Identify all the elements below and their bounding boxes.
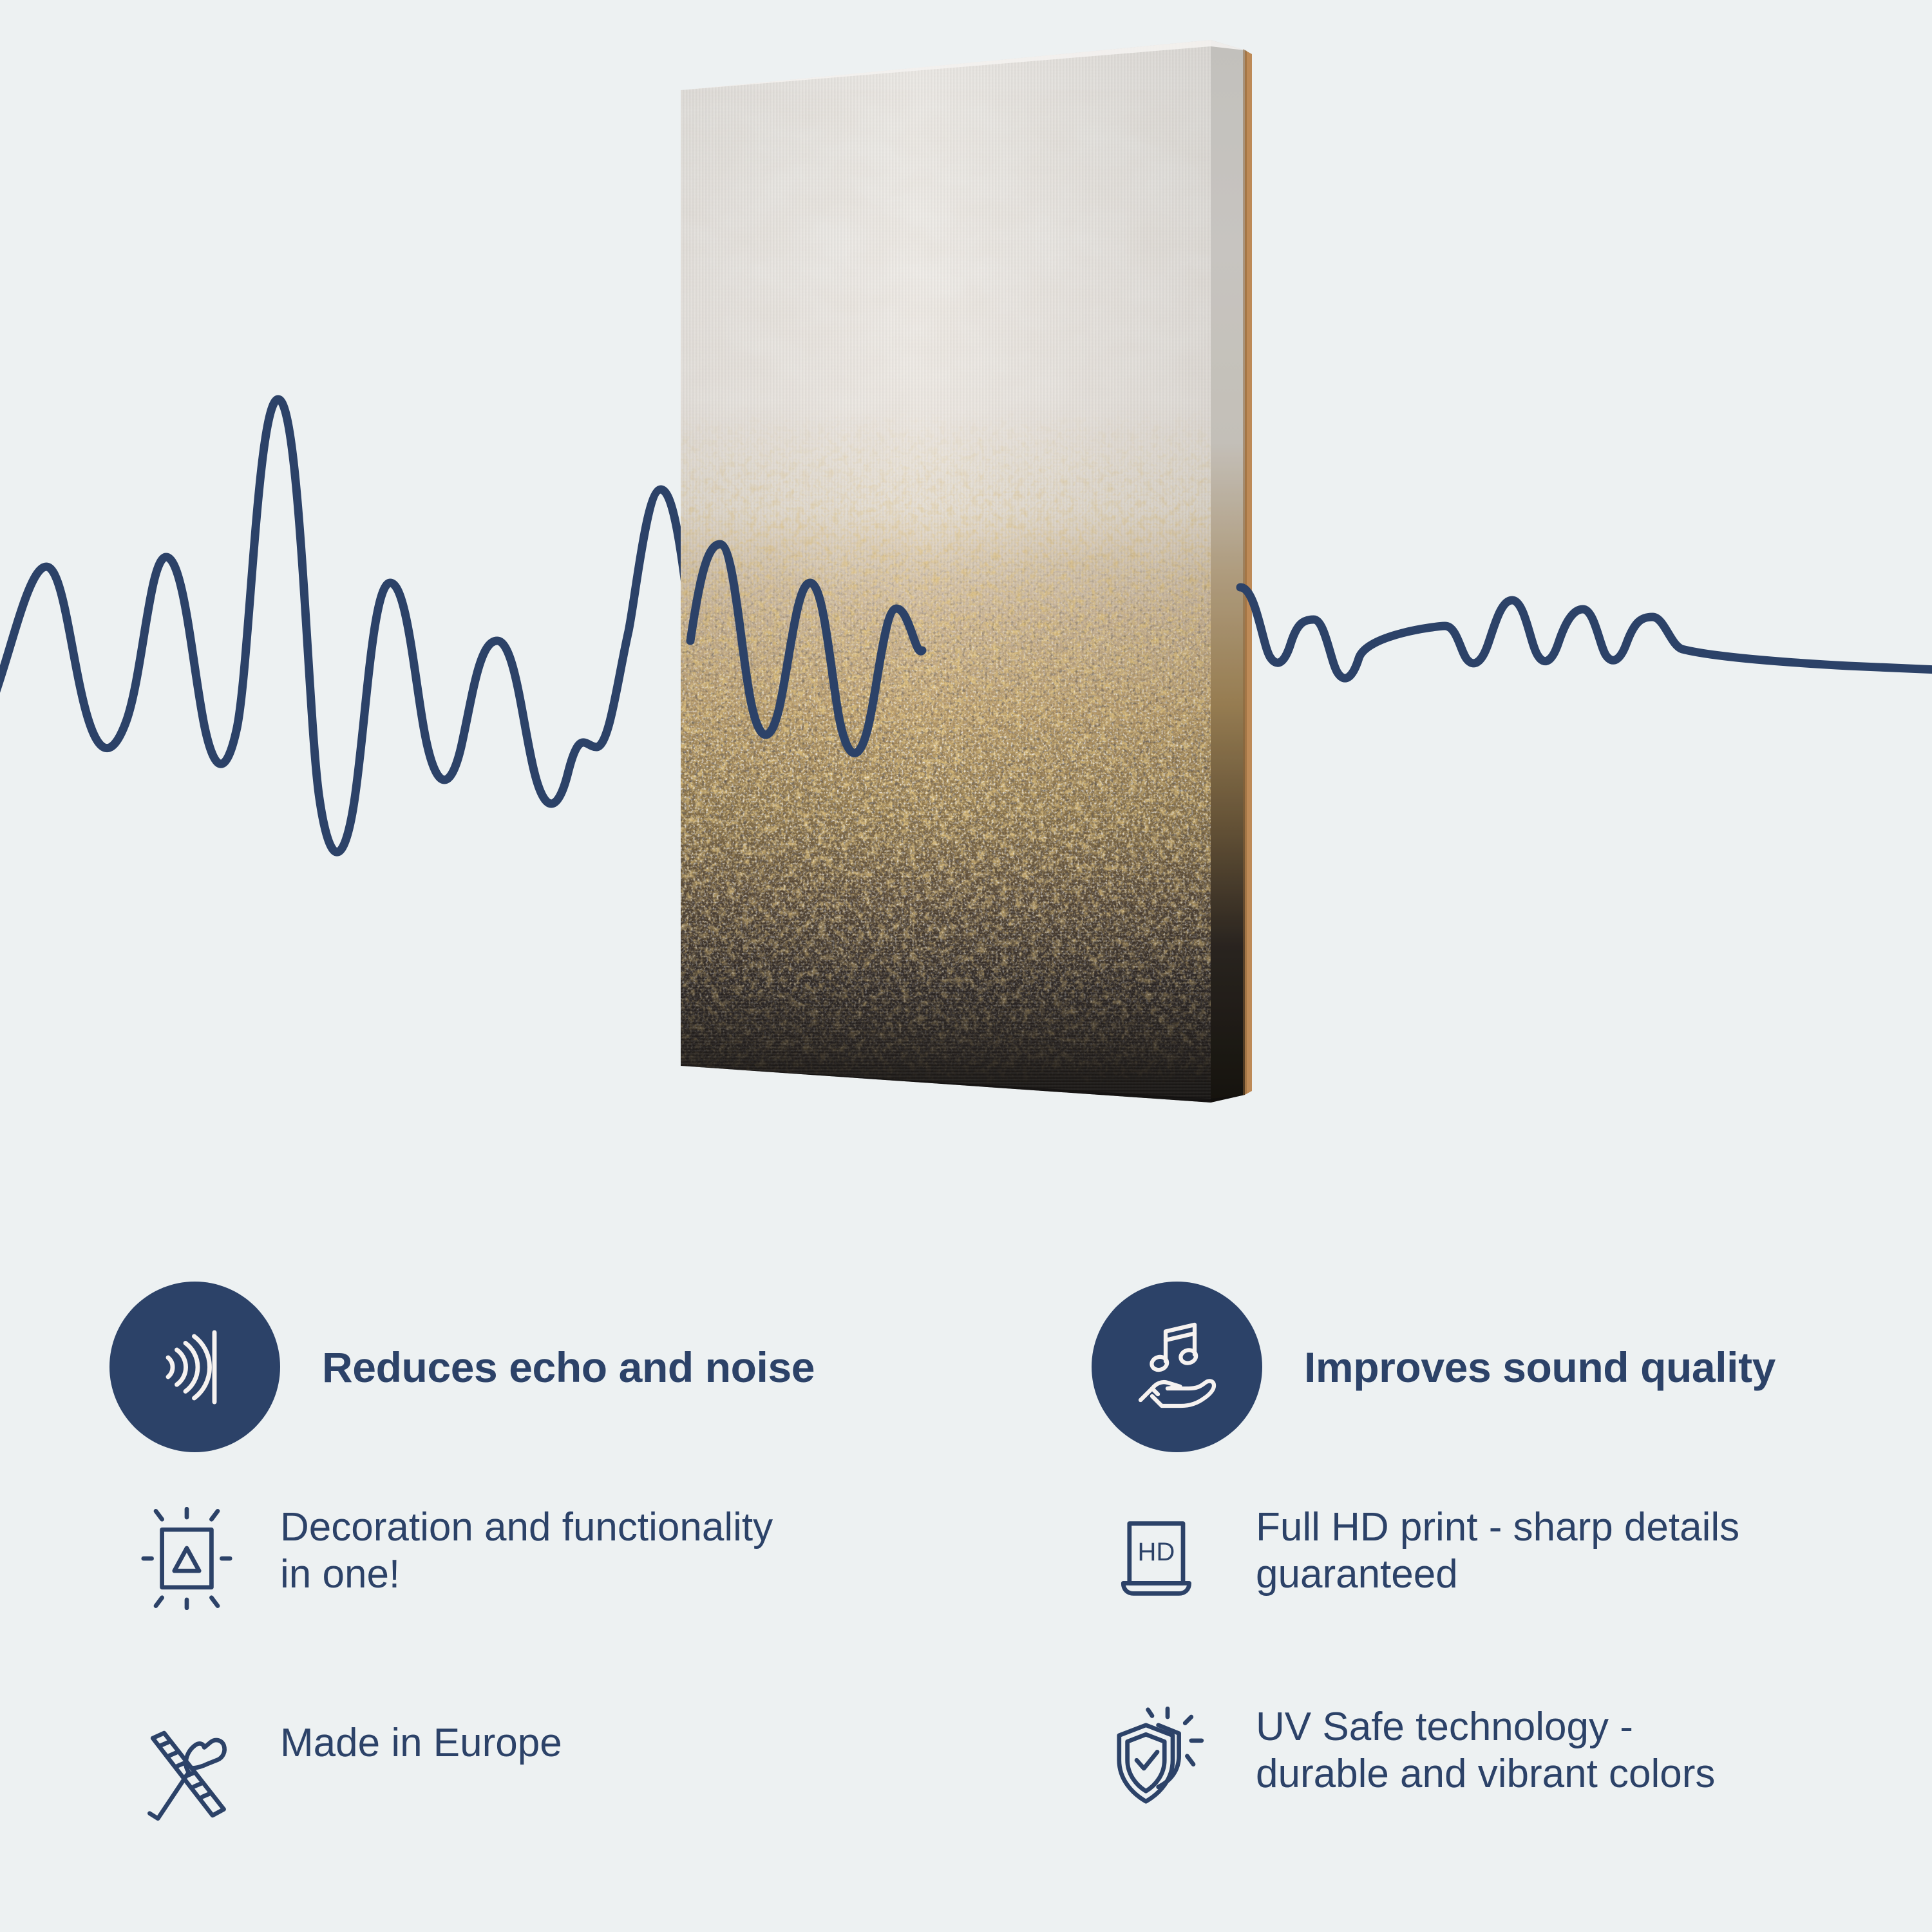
canvas-side-depth (1207, 35, 1247, 1140)
canvas-front-face (670, 32, 1224, 1140)
canvas-product-image (0, 0, 1932, 1932)
product-feature-infographic: Reduces echo and noise (0, 0, 1932, 1932)
